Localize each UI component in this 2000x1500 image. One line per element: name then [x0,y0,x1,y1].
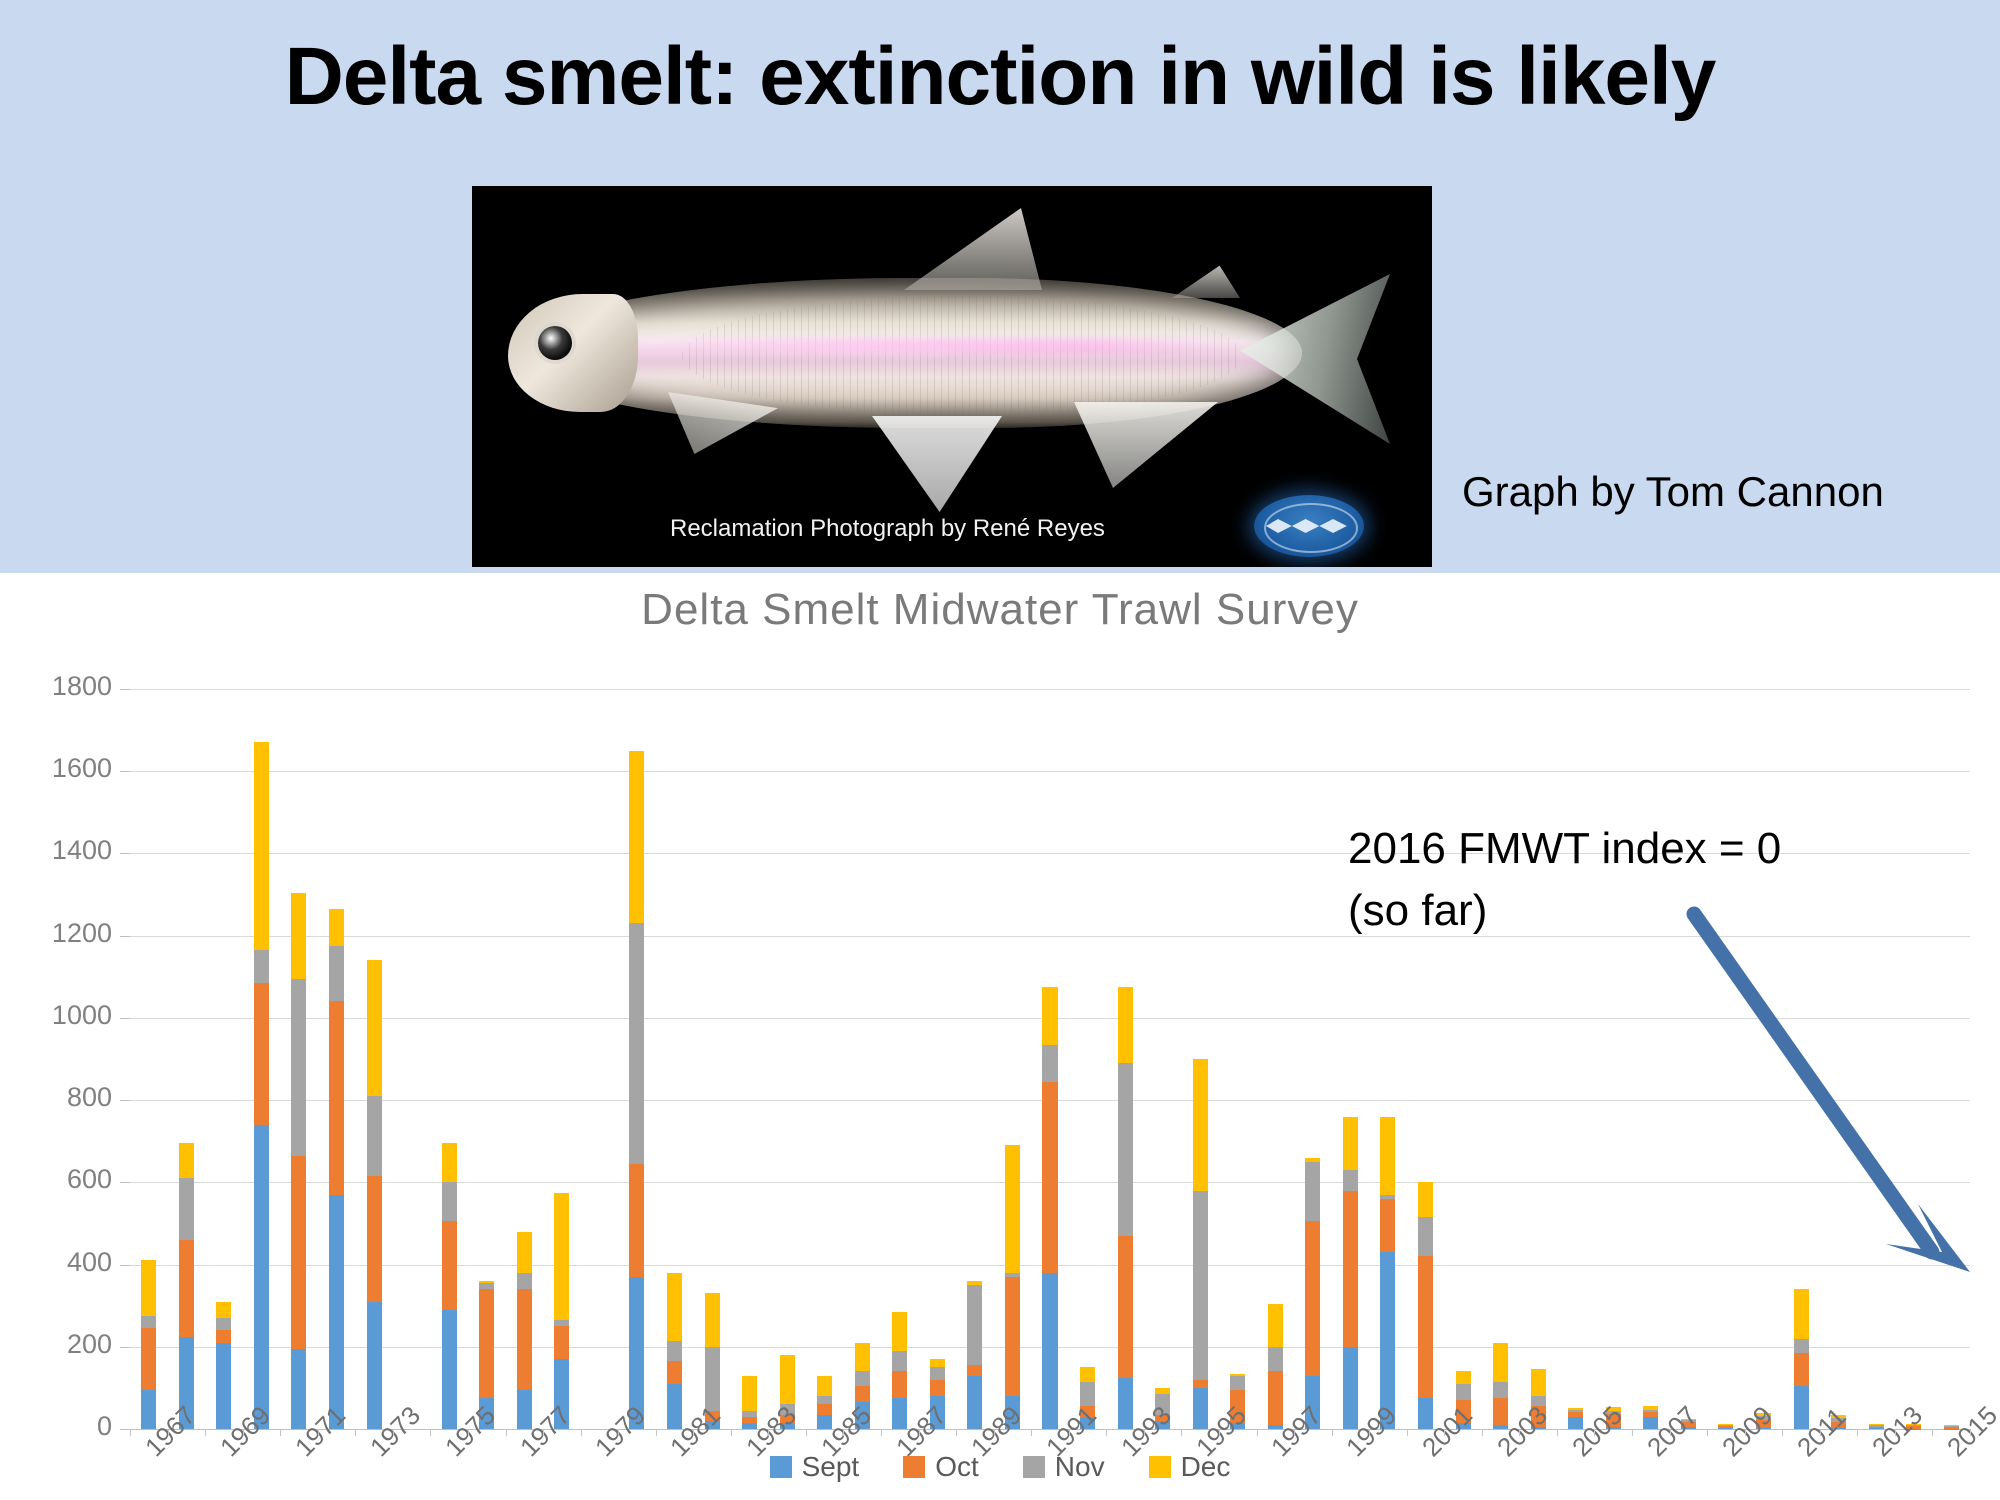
bar-segment-nov [629,923,644,1164]
bar-segment-nov [367,1096,382,1176]
bar-segment-sept [667,1384,682,1429]
y-axis-tick-1800 [120,689,130,690]
chart-bar [1005,1145,1020,1429]
bar-segment-oct [216,1330,231,1342]
chart-container: Delta Smelt Midwater Trawl Survey 020040… [0,573,2000,1500]
bar-segment-nov [667,1341,682,1362]
bar-segment-dec [1042,987,1057,1045]
bar-segment-nov [1118,1063,1133,1236]
bar-segment-oct [892,1371,907,1398]
annotation-line-2: (so far) [1348,880,1781,942]
y-axis-tick-600 [120,1182,130,1183]
y-axis-tick-1000 [120,1018,130,1019]
bar-segment-nov [1493,1382,1508,1398]
bar-segment-oct [1380,1199,1395,1252]
bar-segment-nov [442,1182,457,1221]
bar-segment-dec [1193,1059,1208,1191]
fish-eye-icon [538,326,572,360]
bar-segment-dec [141,1260,156,1316]
legend-item-sept[interactable]: Sept [770,1451,860,1483]
x-axis-tick [1745,1429,1746,1436]
chart-bar [1493,1343,1508,1429]
chart-bar [442,1143,457,1429]
chart-bar [629,751,644,1429]
bar-segment-dec [216,1302,231,1318]
slide-root: Delta smelt: extinction in wild is likel… [0,0,2000,1500]
x-axis-tick [1069,1429,1070,1436]
chart-bar [667,1273,682,1429]
x-axis-tick [1332,1429,1333,1436]
chart-bar [517,1232,532,1429]
bar-segment-oct [629,1164,644,1277]
x-axis-tick [656,1429,657,1436]
y-axis-tick-800 [120,1100,130,1101]
bar-segment-dec [930,1359,945,1367]
chart-bar [1042,987,1057,1429]
legend-label-nov: Nov [1055,1451,1105,1483]
x-axis-tick [1407,1429,1408,1436]
x-axis-tick [843,1429,844,1436]
y-axis-label-1200: 1200 [12,918,112,949]
y-axis-label-600: 600 [12,1164,112,1195]
bar-segment-dec [1005,1145,1020,1272]
chart-bar [216,1302,231,1429]
x-axis-tick [581,1429,582,1436]
bar-segment-dec [892,1312,907,1351]
chart-bar [329,909,344,1429]
y-axis-label-1600: 1600 [12,753,112,784]
bar-segment-nov [1418,1217,1433,1256]
x-axis-tick [1782,1429,1783,1436]
bar-segment-oct [442,1221,457,1309]
x-axis-tick [430,1429,431,1436]
y-axis-tick-400 [120,1265,130,1266]
bar-segment-dec [742,1376,757,1411]
bar-segment-sept [329,1195,344,1429]
bar-segment-nov [517,1273,532,1289]
bar-segment-nov [141,1316,156,1328]
chart-bar [1418,1182,1433,1429]
bar-segment-dec [1343,1117,1358,1170]
bar-segment-sept [141,1390,156,1429]
bar-segment-dec [1418,1182,1433,1217]
bar-segment-sept [1794,1386,1809,1429]
chart-bar [367,960,382,1429]
bar-segment-oct [817,1404,832,1414]
bar-segment-dec [1380,1117,1395,1195]
x-axis-tick [543,1429,544,1436]
x-axis-tick [1857,1429,1858,1436]
bar-segment-sept [1193,1388,1208,1429]
bar-segment-nov [705,1347,720,1411]
x-axis-tick [1707,1429,1708,1436]
legend-swatch-nov [1023,1456,1045,1478]
bar-segment-nov [1343,1170,1358,1191]
bar-segment-dec [442,1143,457,1182]
legend-swatch-dec [1149,1456,1171,1478]
x-axis-tick [1557,1429,1558,1436]
y-axis-tick-1200 [120,936,130,937]
bar-segment-nov [1193,1191,1208,1380]
x-axis-tick [280,1429,281,1436]
x-axis-tick [1181,1429,1182,1436]
x-axis-tick [243,1429,244,1436]
chart-bar [254,742,269,1429]
bar-segment-nov [254,950,269,983]
x-axis-tick [1257,1429,1258,1436]
x-axis-tick [1932,1429,1933,1436]
bar-segment-oct [1193,1380,1208,1388]
chart-bar [742,1376,757,1429]
bar-segment-dec [817,1376,832,1397]
bar-segment-oct [554,1326,569,1359]
x-axis-tick [1594,1429,1595,1436]
delta-smelt-photo: Reclamation Photograph by René Reyes [472,186,1432,567]
legend-swatch-sept [770,1456,792,1478]
bar-segment-dec [517,1232,532,1273]
bar-segment-dec [1268,1304,1283,1347]
chart-bar [967,1281,982,1429]
y-axis-tick-200 [120,1347,130,1348]
fish-pelvic-fin [872,416,1002,512]
x-axis-tick [168,1429,169,1436]
bar-segment-dec [367,960,382,1096]
bar-segment-oct [1268,1371,1283,1424]
x-axis-tick [1895,1429,1896,1436]
x-axis-tick [1632,1429,1633,1436]
bar-segment-dec [1531,1369,1546,1396]
chart-bar [1794,1289,1809,1429]
bar-segment-nov [216,1318,231,1330]
chart-bar [179,1143,194,1429]
bar-segment-nov [1305,1162,1320,1222]
bar-segment-nov [817,1396,832,1404]
bar-segment-dec [179,1143,194,1178]
fish-adipose-fin [1172,262,1240,298]
bar-segment-dec [1794,1289,1809,1338]
bar-segment-sept [1343,1347,1358,1429]
x-axis-tick [1294,1429,1295,1436]
y-axis-label-400: 400 [12,1247,112,1278]
bar-segment-oct [329,1001,344,1194]
bar-segment-oct [254,983,269,1125]
x-axis-tick [1670,1429,1671,1436]
x-axis-tick [768,1429,769,1436]
x-axis-tick [1444,1429,1445,1436]
x-axis-tick [506,1429,507,1436]
bar-segment-dec [554,1193,569,1320]
x-axis-tick [355,1429,356,1436]
x-axis-tick [731,1429,732,1436]
bar-segment-nov [855,1371,870,1385]
x-axis-tick [919,1429,920,1436]
bar-segment-sept [291,1349,306,1429]
y-axis-label-1000: 1000 [12,1000,112,1031]
bar-segment-nov [1042,1045,1057,1082]
bar-segment-nov [967,1285,982,1365]
x-axis-tick [881,1429,882,1436]
chart-title: Delta Smelt Midwater Trawl Survey [0,585,2000,635]
x-axis-tick [618,1429,619,1436]
chart-bars-layer [130,689,1970,1429]
bar-segment-nov [1794,1339,1809,1353]
legend-swatch-oct [903,1456,925,1478]
bar-segment-oct [1118,1236,1133,1378]
bar-segment-oct [1493,1398,1508,1425]
bar-segment-nov [930,1367,945,1379]
chart-legend: SeptOctNovDec [0,1451,2000,1483]
bar-segment-oct [1794,1353,1809,1386]
bar-segment-dec [291,893,306,979]
x-axis-tick [1106,1429,1107,1436]
y-axis-tick-1600 [120,771,130,772]
x-axis-tick [806,1429,807,1436]
bar-segment-oct [479,1289,494,1398]
chart-bar [1343,1117,1358,1429]
x-axis-tick [130,1429,131,1436]
x-axis-tick [956,1429,957,1436]
reclamation-seal-icon [1254,495,1364,557]
bar-segment-nov [1230,1376,1245,1390]
bar-segment-nov [892,1351,907,1372]
bar-segment-oct [1418,1256,1433,1398]
bar-segment-dec [1456,1371,1471,1383]
x-axis-tick [693,1429,694,1436]
legend-label-sept: Sept [802,1451,860,1483]
bar-segment-nov [329,946,344,1002]
bar-segment-nov [1268,1347,1283,1372]
bar-segment-sept [367,1302,382,1429]
bar-segment-oct [1343,1191,1358,1347]
bar-segment-sept [254,1125,269,1429]
x-axis-tick [1482,1429,1483,1436]
x-axis-tick [205,1429,206,1436]
fish-caudal-fin [1240,274,1390,444]
chart-bar [1118,987,1133,1429]
legend-label-oct: Oct [935,1451,979,1483]
bar-segment-oct [1042,1082,1057,1273]
annotation-line-1: 2016 FMWT index = 0 [1348,818,1781,880]
x-axis-tick [1144,1429,1145,1436]
chart-bar [141,1260,156,1429]
fish-scales-texture [682,296,1242,416]
bar-segment-dec [1493,1343,1508,1382]
bar-segment-sept [1042,1273,1057,1429]
legend-item-nov[interactable]: Nov [1023,1451,1105,1483]
bar-segment-dec [667,1273,682,1341]
x-axis-tick [1820,1429,1821,1436]
chart-plot-area: 020040060080010001200140016001800 196719… [130,689,1970,1429]
chart-bar [892,1312,907,1429]
bar-segment-oct [367,1176,382,1301]
y-axis-label-200: 200 [12,1329,112,1360]
fish-anal-fin [1068,402,1218,488]
fish-lateral-stripe [562,338,1262,354]
bar-segment-oct [930,1380,945,1396]
x-axis-tick [994,1429,995,1436]
y-axis-tick-1400 [120,853,130,854]
x-axis-tick [1369,1429,1370,1436]
photo-caption: Reclamation Photograph by René Reyes [670,515,1105,543]
bar-segment-oct [667,1361,682,1384]
bar-segment-dec [1080,1367,1095,1381]
y-axis-label-1400: 1400 [12,835,112,866]
y-axis-label-0: 0 [12,1411,112,1442]
bar-segment-dec [329,909,344,946]
fmwt-annotation: 2016 FMWT index = 0 (so far) [1348,818,1781,943]
y-axis-tick-0 [120,1429,130,1430]
bar-segment-sept [1118,1378,1133,1429]
bar-segment-dec [855,1343,870,1372]
x-axis-tick [468,1429,469,1436]
bar-segment-oct [1305,1221,1320,1375]
bar-segment-nov [291,979,306,1156]
chart-bar [1268,1304,1283,1429]
chart-bar [291,893,306,1430]
fish-head-shape [508,294,638,412]
bar-segment-oct [855,1386,870,1402]
x-axis-tick [393,1429,394,1436]
bar-segment-sept [967,1376,982,1429]
bar-segment-dec [629,751,644,924]
x-axis-tick [318,1429,319,1436]
y-axis-label-1800: 1800 [12,671,112,702]
graph-credit: Graph by Tom Cannon [1462,468,1884,516]
chart-bar [1193,1059,1208,1429]
legend-label-dec: Dec [1181,1451,1231,1483]
bar-segment-oct [291,1156,306,1349]
bar-segment-nov [1456,1384,1471,1400]
x-axis-tick [1970,1429,1971,1436]
bar-segment-sept [442,1310,457,1429]
bar-segment-nov [179,1178,194,1240]
bar-segment-sept [216,1343,231,1429]
page-title: Delta smelt: extinction in wild is likel… [0,30,2000,124]
x-axis-tick [1219,1429,1220,1436]
bar-segment-dec [254,742,269,950]
chart-bar [817,1376,832,1429]
bar-segment-dec [1118,987,1133,1063]
x-axis-tick [1031,1429,1032,1436]
bar-segment-oct [141,1328,156,1390]
bar-segment-sept [517,1390,532,1429]
bar-segment-dec [705,1293,720,1346]
chart-bar [554,1193,569,1429]
bar-segment-dec [780,1355,795,1404]
bar-segment-oct [1005,1277,1020,1396]
bar-segment-oct [179,1240,194,1337]
chart-bar [1380,1117,1395,1429]
chart-bar [1305,1158,1320,1429]
x-axis-tick [1519,1429,1520,1436]
bar-segment-oct [967,1365,982,1375]
bar-segment-oct [517,1289,532,1390]
y-axis-label-800: 800 [12,1082,112,1113]
legend-item-oct[interactable]: Oct [903,1451,979,1483]
legend-item-dec[interactable]: Dec [1149,1451,1231,1483]
